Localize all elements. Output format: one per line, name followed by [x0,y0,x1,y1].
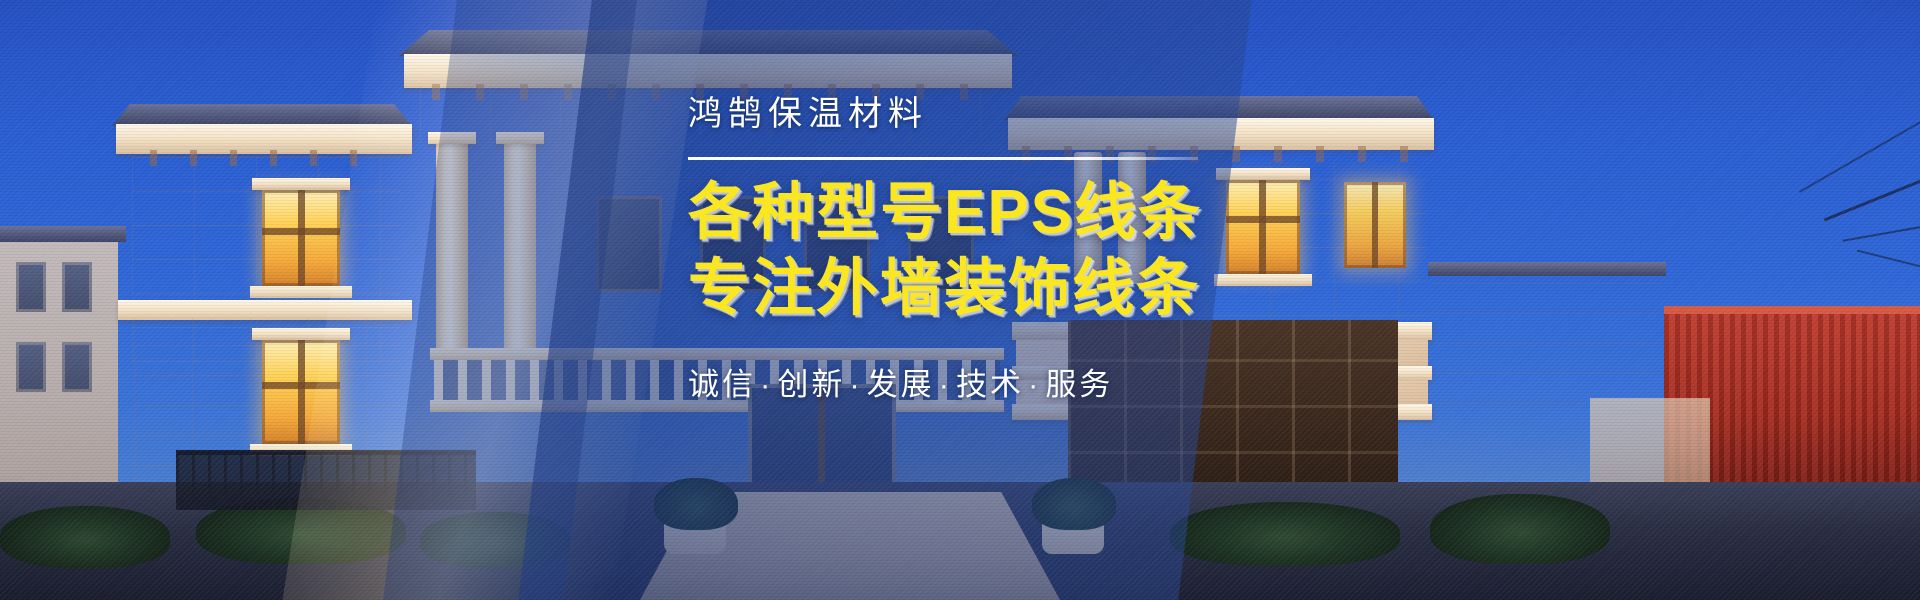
tagline-item: 创新 [777,367,845,402]
headline-line-1: 各种型号EPS线条 [688,176,1308,249]
banner-copy: 鸿鹄保温材料 各种型号EPS线条 专注外墙装饰线条 诚信·创新·发展·技术·服务 [688,96,1308,404]
headline-line-2: 专注外墙装饰线条 [688,252,1308,325]
center-column-1 [436,138,468,350]
tagline-separator: · [756,367,777,402]
background-window-left-2 [62,262,92,312]
tagline-item: 技术 [956,367,1024,402]
shrub-hedge-far-right [1430,494,1610,564]
shrub-hedge-right [1170,502,1400,566]
far-right-low-wall [1590,398,1710,490]
brand-name: 鸿鹄保温材料 [688,96,1308,133]
left-wing-window-upper-mullion-v [298,190,305,286]
tagline-separator: · [1024,367,1045,402]
far-right-wall-coping [1428,262,1666,276]
left-wing-belt-course [118,300,412,320]
center-window-1 [596,196,662,292]
iron-fence-top-rail [176,450,476,455]
iron-fence [176,452,476,510]
background-window-left-1 [16,262,46,312]
left-wing-window-upper-sill [250,286,352,298]
left-wing-window-lower-mullion-h [262,382,340,389]
far-right-wall [1432,272,1662,404]
center-column-2 [504,138,536,350]
divider-rule [688,157,1198,160]
tagline-item: 发展 [867,367,935,402]
left-wing-dentils [150,150,390,166]
left-wing-window-lower-header [252,328,350,340]
center-column-2-capital [496,132,544,144]
tagline-separator: · [845,367,866,402]
right-wing-window-2-mullion-v [1372,182,1378,268]
shrub-hedge-center-left [420,512,570,568]
background-window-left-3 [16,342,46,392]
left-wing-window-lower-mullion-v [298,340,305,444]
shrub-right [1032,478,1116,530]
tagline-item: 服务 [1045,367,1113,402]
center-column-1-capital [428,132,476,144]
hero-banner: 鸿鹄保温材料 各种型号EPS线条 专注外墙装饰线条 诚信·创新·发展·技术·服务 [0,0,1920,600]
center-pediment-cornice [404,54,1012,88]
background-window-left-4 [62,342,92,392]
tagline-item: 诚信 [688,367,756,402]
center-pediment-roof [398,30,1018,56]
red-container-top-edge [1664,306,1920,314]
shrub-hedge-far-left [0,506,170,568]
left-wing-roof [112,104,412,126]
left-wing-window-upper-header [252,178,350,190]
left-wing-window-upper-mullion-h [262,228,340,235]
background-building-left-roof [0,226,126,242]
tagline-separator: · [935,367,956,402]
tagline: 诚信·创新·发展·技术·服务 [688,359,1308,404]
shrub-left [654,478,738,530]
